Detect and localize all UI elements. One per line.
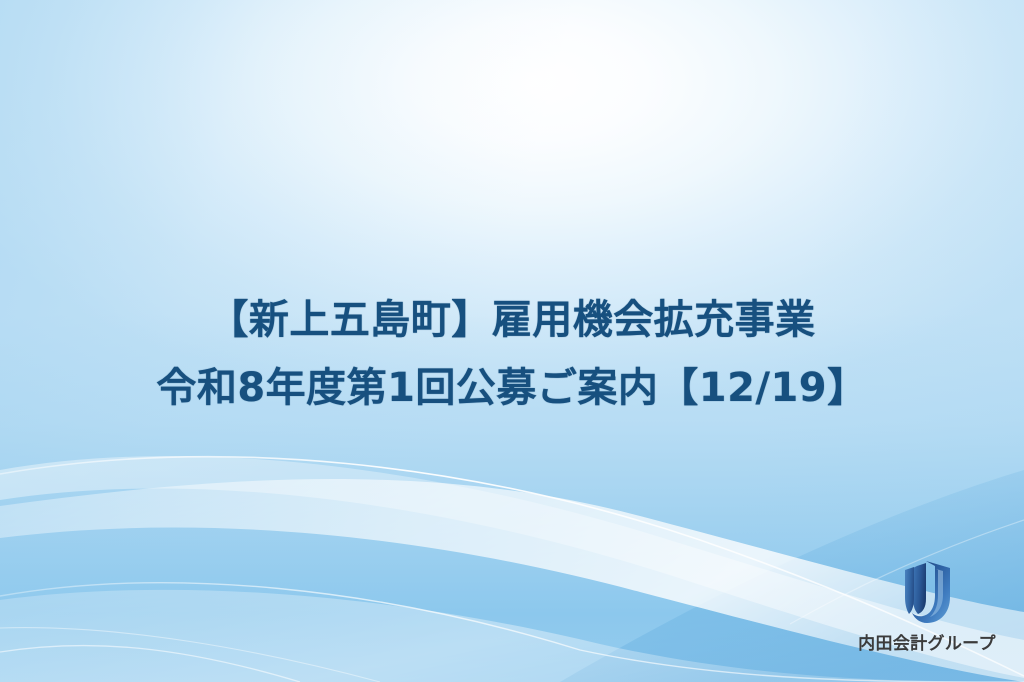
eyecatch-banner: 【新上五島町】雇用機会拡充事業 令和8年度第1回公募ご案内【12/19】 <box>0 0 1024 682</box>
brand-logo: 内田会計グループ <box>852 557 1002 654</box>
title-line-1: 【新上五島町】雇用機会拡充事業 <box>0 286 1024 354</box>
page-title: 【新上五島町】雇用機会拡充事業 令和8年度第1回公募ご案内【12/19】 <box>0 286 1024 422</box>
uchida-shield-u-mark-icon <box>896 557 958 627</box>
title-line-2: 令和8年度第1回公募ご案内【12/19】 <box>0 354 1024 422</box>
brand-logo-text: 内田会計グループ <box>858 629 996 654</box>
